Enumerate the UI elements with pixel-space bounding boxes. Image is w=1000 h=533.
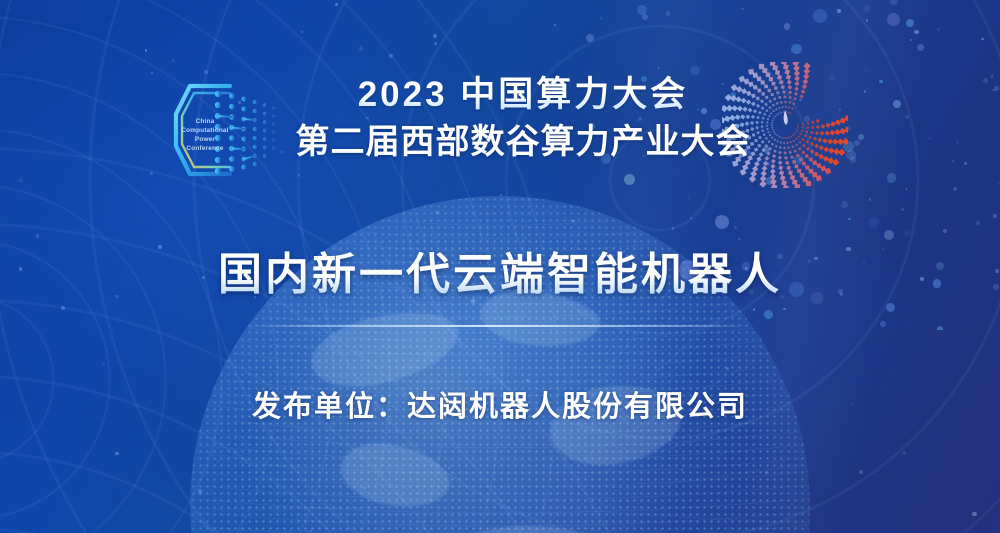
spiral-tile <box>816 175 822 181</box>
sparkle-dot <box>61 306 65 310</box>
bokeh-dot <box>943 229 947 233</box>
bokeh-dot <box>887 173 897 183</box>
spiral-tile <box>800 173 805 178</box>
spiral-tile <box>759 64 764 69</box>
sparkle-dot <box>301 31 303 33</box>
sparkle-dot <box>359 46 363 50</box>
sparkle-dot <box>172 59 176 63</box>
spiral-tile <box>761 170 767 176</box>
bokeh-dot <box>937 326 943 330</box>
spiral-tile <box>750 170 757 177</box>
spiral-tile <box>788 170 793 175</box>
sparkle-dot <box>19 179 22 182</box>
conference-title-block: 2023 中国算力大会 第二届西部数谷算力产业大会 <box>0 72 1000 166</box>
bokeh-dot <box>764 310 774 320</box>
bokeh-dot <box>884 230 894 240</box>
sparkle-dot <box>115 452 119 456</box>
spiral-tile <box>786 166 791 171</box>
sparkle-dot <box>145 49 147 51</box>
bokeh-dot <box>738 238 740 240</box>
bokeh-dot <box>841 201 848 208</box>
bokeh-dot <box>741 8 743 10</box>
sparkle-dot <box>102 362 105 365</box>
bokeh-dot <box>880 321 886 327</box>
spiral-tile <box>759 180 766 187</box>
bokeh-dot <box>600 17 602 19</box>
sparkle-dot <box>335 3 338 6</box>
bokeh-dot <box>890 0 897 5</box>
bokeh-dot <box>865 69 867 71</box>
bokeh-dot <box>903 230 909 236</box>
bokeh-dot <box>784 23 790 29</box>
bokeh-dot <box>993 214 997 218</box>
spiral-tile <box>752 166 758 172</box>
conference-title-line2: 第二届西部数谷算力产业大会 <box>46 118 1000 166</box>
bokeh-dot <box>868 217 879 228</box>
bokeh-dot <box>624 174 636 186</box>
sparkle-dot <box>972 512 976 516</box>
bokeh-dot <box>586 34 594 42</box>
sparkle-dot <box>434 42 437 45</box>
spiral-tile <box>794 184 800 188</box>
bokeh-dot <box>863 5 870 12</box>
conference-slide: China Computational Power Conference 202… <box>0 0 1000 533</box>
bokeh-dot <box>848 218 851 221</box>
bokeh-dot <box>869 198 871 200</box>
bokeh-dot <box>813 9 827 23</box>
bokeh-dot <box>642 14 648 20</box>
bokeh-dot <box>953 187 957 191</box>
spiral-tile <box>770 169 776 175</box>
bokeh-dot <box>937 28 940 31</box>
bokeh-dot <box>906 19 915 28</box>
sparkle-dot <box>389 54 393 58</box>
sparkle-dot <box>460 19 462 21</box>
spiral-tile <box>771 184 778 188</box>
spiral-tile <box>762 166 768 172</box>
bokeh-dot <box>666 11 670 15</box>
sparkle-dot <box>897 473 898 474</box>
spiral-tile <box>749 175 756 182</box>
bokeh-dot <box>715 215 729 229</box>
bokeh-dot <box>791 44 801 54</box>
spiral-tile <box>806 181 811 186</box>
sparkle-dot <box>902 451 906 455</box>
spiral-tile <box>792 62 799 66</box>
spiral-tile <box>797 169 801 173</box>
sparkle-dot <box>554 24 556 26</box>
spiral-tile <box>778 165 783 170</box>
bokeh-dot <box>887 13 900 26</box>
sparkle-dot <box>433 34 437 38</box>
spiral-tile <box>779 170 784 175</box>
publisher-line: 发布单位：达闼机器人股份有限公司 <box>0 387 1000 427</box>
sparkle-dot <box>298 174 301 177</box>
spiral-tile <box>803 62 810 69</box>
horizontal-divider <box>250 325 750 327</box>
bokeh-dot <box>690 217 692 219</box>
main-headline: 国内新一代云端智能机器人 <box>0 246 1000 304</box>
spiral-tile <box>790 175 795 180</box>
spiral-tile <box>770 62 776 66</box>
sparkle-dot <box>36 234 39 237</box>
bokeh-dot <box>917 44 924 51</box>
bokeh-dot <box>637 5 646 14</box>
conference-title-line1: 2023 中国算力大会 <box>46 72 1000 118</box>
sparkle-dot <box>859 470 863 474</box>
sparkle-dot <box>150 172 153 175</box>
bokeh-dot <box>976 221 980 225</box>
